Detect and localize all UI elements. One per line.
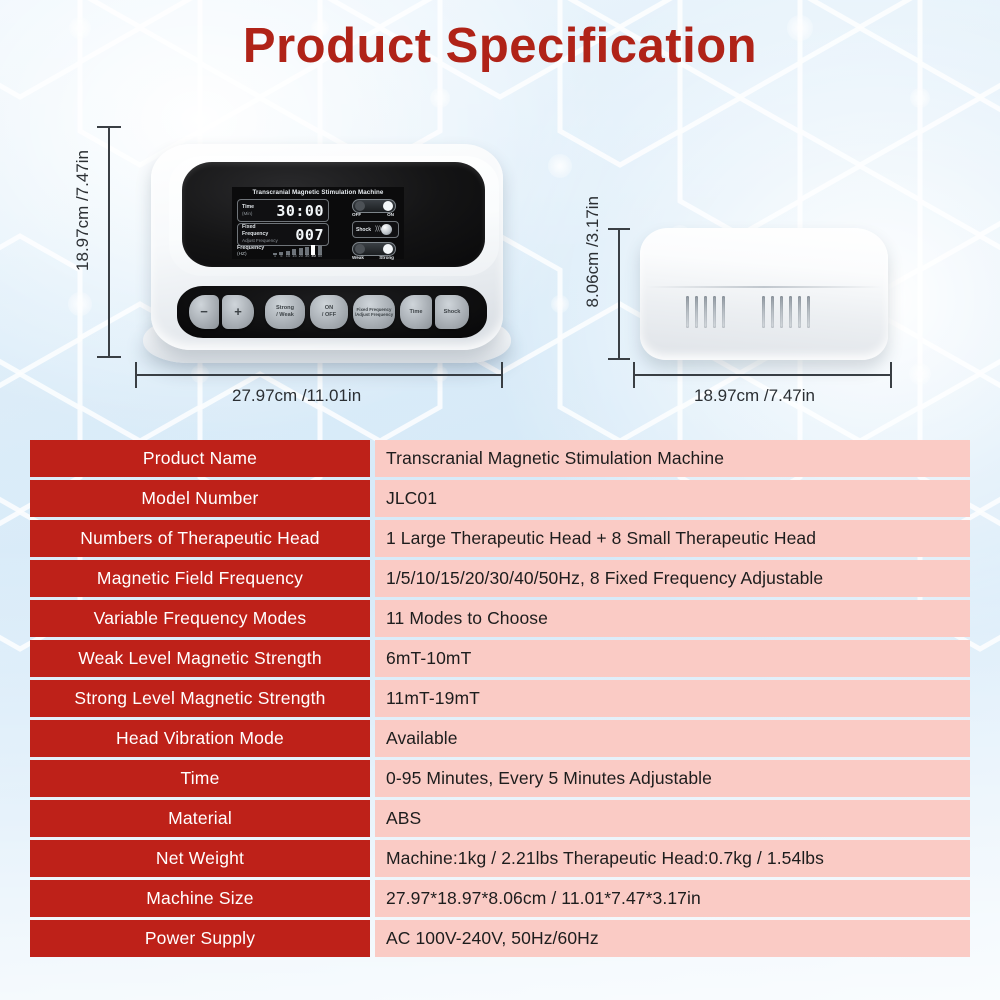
device-front-black-panel: Transcranial Magnetic Stimulation Machin… — [182, 162, 485, 267]
frequency-tick: 10 — [286, 253, 290, 258]
spec-key: Weak Level Magnetic Strength — [30, 640, 370, 677]
front-width-tick-left — [135, 362, 137, 388]
lcd-frequency-value: 007 — [281, 226, 328, 244]
vent-group-left — [686, 296, 725, 328]
front-width-dimension-line — [136, 374, 503, 376]
minus-button[interactable]: − — [189, 295, 219, 329]
lcd-time-labels: Time (Min) — [238, 204, 276, 218]
device-side-view-image — [640, 228, 888, 360]
vent-slot — [695, 296, 698, 328]
vent-slot — [780, 296, 783, 328]
spec-value: JLC01 — [375, 480, 970, 517]
level-toggle-labels: Weak Strong — [352, 255, 394, 260]
front-width-label: 27.97cm /11.01in — [232, 386, 361, 406]
frequency-tick: 1 — [273, 253, 277, 258]
table-row: Net Weight Machine:1kg / 2.21lbs Therape… — [30, 840, 970, 877]
side-width-dimension-line — [634, 374, 892, 376]
level-toggle-strong-knob — [383, 244, 393, 254]
side-width-tick-left — [633, 362, 635, 388]
table-row: Product Name Transcranial Magnetic Stimu… — [30, 440, 970, 477]
weak-label: Weak — [352, 255, 364, 260]
table-row: Weak Level Magnetic Strength 6mT-10mT — [30, 640, 970, 677]
frequency-tick: 15 — [292, 253, 296, 258]
lcd-frequency-sublabel: Adjust Frequency — [242, 238, 281, 245]
table-row: Material ABS — [30, 800, 970, 837]
specification-table: Product Name Transcranial Magnetic Stimu… — [30, 440, 970, 960]
lcd-time-value: 30:00 — [276, 202, 328, 220]
device-side-seam — [646, 286, 882, 288]
vent-group-right — [762, 296, 810, 328]
power-toggle-on-knob — [383, 201, 393, 211]
lcd-control-column: OFF ON Shock ))) We — [352, 199, 402, 261]
spec-key: Product Name — [30, 440, 370, 477]
spec-key: Time — [30, 760, 370, 797]
page-title: Product Specification — [0, 18, 1000, 74]
vent-slot — [798, 296, 801, 328]
on-off-button[interactable]: ON / OFF — [310, 295, 348, 329]
spec-value: 11 Modes to Choose — [375, 600, 970, 637]
lcd-title: Transcranial Magnetic Stimulation Machin… — [232, 189, 404, 196]
shock-label: Shock — [356, 227, 371, 233]
spec-value: Transcranial Magnetic Stimulation Machin… — [375, 440, 970, 477]
frequency-tick-active: 40 — [311, 253, 315, 258]
strong-weak-button-line2: / Weak — [276, 312, 294, 319]
lcd-frequency-field: Fixed Frequency Adjust Frequency 007 — [237, 223, 329, 246]
product-specification-page: Product Specification 18.97cm /7.47in 27… — [0, 0, 1000, 1000]
shock-dot-icon — [381, 224, 392, 235]
on-off-button-line1: ON — [322, 305, 336, 312]
spec-key: Net Weight — [30, 840, 370, 877]
side-height-tick-bottom — [608, 358, 630, 360]
lcd-frequency-tick-labels: 1 5 10 15 20 30 40 50 — [273, 253, 322, 258]
spec-key: Power Supply — [30, 920, 370, 957]
strong-weak-button[interactable]: Strong / Weak — [265, 295, 305, 329]
power-on-label: ON — [387, 212, 394, 217]
spec-value: 0-95 Minutes, Every 5 Minutes Adjustable — [375, 760, 970, 797]
spec-key: Head Vibration Mode — [30, 720, 370, 757]
side-width-label: 18.97cm /7.47in — [694, 386, 815, 406]
device-front-view-image: Transcranial Magnetic Stimulation Machin… — [143, 138, 511, 363]
vent-slot — [762, 296, 765, 328]
lcd-frequency-label: Fixed Frequency — [242, 224, 281, 238]
on-off-button-line2: / OFF — [322, 312, 336, 319]
lcd-frequency-scale-label: Frequency — [237, 245, 271, 252]
fixed-frequency-button[interactable]: Fixed Frequency /Adjust Frequency — [353, 295, 395, 329]
spec-value: AC 100V-240V, 50Hz/60Hz — [375, 920, 970, 957]
spec-key: Numbers of Therapeutic Head — [30, 520, 370, 557]
spec-value: 1 Large Therapeutic Head + 8 Small Thera… — [375, 520, 970, 557]
device-button-bar: − + Strong / Weak ON / OFF Fixed — [177, 286, 487, 338]
spec-key: Material — [30, 800, 370, 837]
spec-value: Available — [375, 720, 970, 757]
power-toggle-off-knob — [355, 201, 365, 211]
front-height-tick-top — [97, 126, 121, 128]
table-row: Model Number JLC01 — [30, 480, 970, 517]
power-toggle-labels: OFF ON — [352, 212, 394, 217]
frequency-tick: 50 — [318, 253, 322, 258]
vent-slot — [713, 296, 716, 328]
spec-key: Magnetic Field Frequency — [30, 560, 370, 597]
spec-value: 11mT-19mT — [375, 680, 970, 717]
vent-slot — [789, 296, 792, 328]
device-front-body: Transcranial Magnetic Stimulation Machin… — [151, 144, 503, 350]
table-row: Time 0-95 Minutes, Every 5 Minutes Adjus… — [30, 760, 970, 797]
vent-slot — [686, 296, 689, 328]
spec-value: 27.97*18.97*8.06cm / 11.01*7.47*3.17in — [375, 880, 970, 917]
table-row: Head Vibration Mode Available — [30, 720, 970, 757]
device-side-body — [640, 228, 888, 360]
power-off-label: OFF — [352, 212, 361, 217]
lcd-time-label: Time — [242, 204, 276, 211]
vent-slot — [722, 296, 725, 328]
front-width-tick-right — [501, 362, 503, 388]
fixed-frequency-button-line2: /Adjust Frequency — [355, 312, 393, 317]
spec-value: 6mT-10mT — [375, 640, 970, 677]
table-row: Machine Size 27.97*18.97*8.06cm / 11.01*… — [30, 880, 970, 917]
frequency-tick: 30 — [305, 253, 309, 258]
spec-value: 1/5/10/15/20/30/40/50Hz, 8 Fixed Frequen… — [375, 560, 970, 597]
level-toggle-weak-knob — [355, 244, 365, 254]
front-height-label: 18.97cm /7.47in — [73, 150, 93, 271]
spec-key: Strong Level Magnetic Strength — [30, 680, 370, 717]
lcd-time-sublabel: (Min) — [242, 211, 276, 218]
vent-slot — [807, 296, 810, 328]
shock-button[interactable]: Shock — [435, 295, 469, 329]
vent-slot — [704, 296, 707, 328]
vent-slot — [771, 296, 774, 328]
table-row: Numbers of Therapeutic Head 1 Large Ther… — [30, 520, 970, 557]
strong-label: Strong — [379, 255, 394, 260]
lcd-frequency-scale-unit: (HZ) — [237, 252, 271, 258]
shock-indicator: Shock ))) — [352, 221, 399, 238]
frequency-tick: 5 — [279, 253, 283, 258]
time-button[interactable]: Time — [400, 295, 432, 329]
lcd-time-field: Time (Min) 30:00 — [237, 199, 329, 222]
front-height-dimension-line — [108, 126, 110, 358]
front-height-tick-bottom — [97, 356, 121, 358]
side-height-tick-top — [608, 228, 630, 230]
side-height-dimension-line — [618, 228, 620, 360]
power-toggle-indicator — [352, 199, 396, 213]
side-height-label: 8.06cm /3.17in — [583, 196, 603, 308]
spec-value: Machine:1kg / 2.21lbs Therapeutic Head:0… — [375, 840, 970, 877]
side-width-tick-right — [890, 362, 892, 388]
spec-key: Variable Frequency Modes — [30, 600, 370, 637]
table-row: Magnetic Field Frequency 1/5/10/15/20/30… — [30, 560, 970, 597]
table-row: Strong Level Magnetic Strength 11mT-19mT — [30, 680, 970, 717]
lcd-frequency-scale-labels: Frequency (HZ) — [237, 245, 271, 258]
frequency-tick: 20 — [299, 253, 303, 258]
table-row: Variable Frequency Modes 11 Modes to Cho… — [30, 600, 970, 637]
spec-value: ABS — [375, 800, 970, 837]
lcd-screen: Transcranial Magnetic Stimulation Machin… — [232, 187, 404, 259]
level-toggle-indicator — [352, 242, 396, 256]
strong-weak-button-line1: Strong — [276, 305, 294, 312]
spec-key: Machine Size — [30, 880, 370, 917]
plus-button[interactable]: + — [222, 295, 254, 329]
table-row: Power Supply AC 100V-240V, 50Hz/60Hz — [30, 920, 970, 957]
spec-key: Model Number — [30, 480, 370, 517]
lcd-frequency-labels: Fixed Frequency Adjust Frequency — [238, 224, 281, 245]
